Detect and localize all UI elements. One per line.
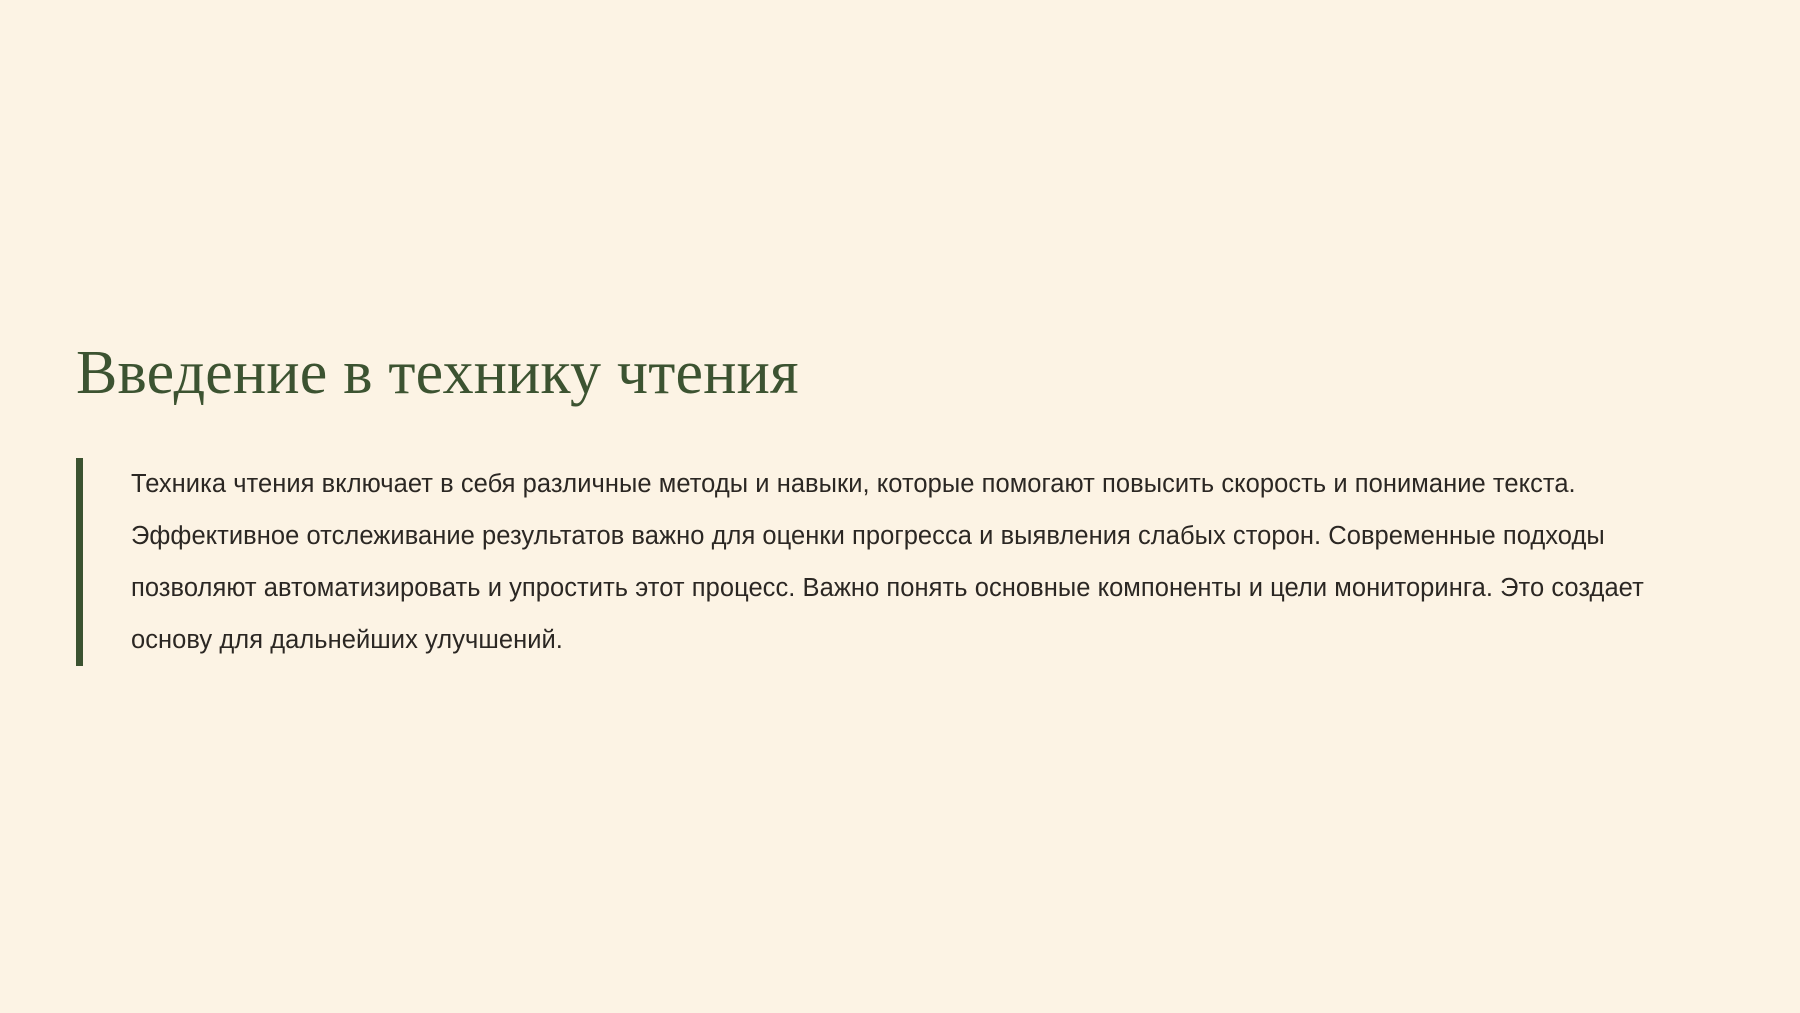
body-callout-block: Техника чтения включает в себя различные… [76, 458, 1736, 666]
accent-bar [76, 458, 83, 666]
body-text-container: Техника чтения включает в себя различные… [83, 458, 1736, 666]
body-paragraph: Техника чтения включает в себя различные… [131, 458, 1726, 666]
slide-canvas: Введение в технику чтения Техника чтения… [0, 0, 1800, 1013]
slide-content: Введение в технику чтения Техника чтения… [76, 340, 1736, 666]
page-title: Введение в технику чтения [76, 340, 1736, 407]
